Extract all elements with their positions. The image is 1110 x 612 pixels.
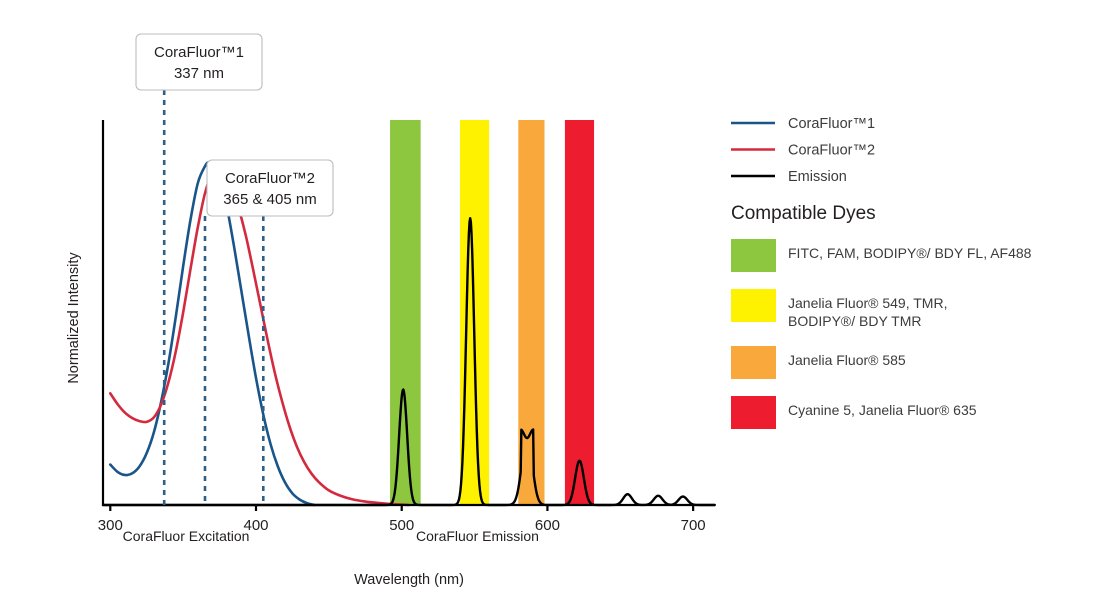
dye-label: FITC, FAM, BODIPY®/ BDY FL, AF488 bbox=[788, 245, 1032, 261]
callout-line-1: CoraFluor™2 bbox=[225, 170, 315, 187]
dye-label: Janelia Fluor® 585 bbox=[788, 352, 906, 368]
red-band bbox=[565, 120, 594, 505]
dye-swatch[interactable] bbox=[731, 396, 776, 429]
region-caption: CoraFluor Excitation bbox=[123, 528, 250, 544]
compatible-dyes-title: Compatible Dyes bbox=[731, 203, 876, 224]
green-band bbox=[390, 120, 421, 505]
x-tick-label: 700 bbox=[681, 517, 706, 534]
dye-label: Cyanine 5, Janelia Fluor® 635 bbox=[788, 402, 977, 418]
dye-label: BODIPY®/ BDY TMR bbox=[788, 313, 922, 329]
x-tick-label: 500 bbox=[389, 517, 414, 534]
spectra-chart: 300400500600700Normalized IntensityWavel… bbox=[0, 0, 1110, 612]
callout-line-1: CoraFluor™1 bbox=[154, 44, 244, 61]
callout-line-2: 337 nm bbox=[174, 65, 224, 82]
dye-label: Janelia Fluor® 549, TMR, bbox=[788, 295, 947, 311]
corafluor2-callout: CoraFluor™2365 & 405 nm bbox=[207, 160, 333, 216]
x-tick-label: 300 bbox=[98, 517, 123, 534]
dye-swatch[interactable] bbox=[731, 346, 776, 379]
region-caption: CoraFluor Emission bbox=[416, 528, 539, 544]
legend-item-label[interactable]: CoraFluor™2 bbox=[788, 143, 875, 159]
dye-swatch[interactable] bbox=[731, 239, 776, 272]
legend-item-label[interactable]: CoraFluor™1 bbox=[788, 116, 875, 132]
y-axis-title: Normalized Intensity bbox=[66, 252, 82, 384]
chart-canvas: 300400500600700Normalized IntensityWavel… bbox=[0, 0, 1110, 612]
series-legend: CoraFluor™1CoraFluor™2Emission bbox=[731, 116, 875, 185]
x-axis-title: Wavelength (nm) bbox=[354, 572, 464, 588]
curve-corafluor2 bbox=[110, 168, 409, 505]
filter-bands-layer bbox=[390, 120, 594, 505]
corafluor1-callout: CoraFluor™1337 nm bbox=[136, 34, 262, 90]
callout-line-2: 365 & 405 nm bbox=[223, 191, 316, 208]
dye-swatch[interactable] bbox=[731, 289, 776, 322]
compatible-dyes-legend: Compatible DyesFITC, FAM, BODIPY®/ BDY F… bbox=[731, 203, 1032, 429]
callouts-layer: CoraFluor™1337 nmCoraFluor™2365 & 405 nm bbox=[136, 34, 333, 216]
legend-item-label[interactable]: Emission bbox=[788, 169, 847, 185]
